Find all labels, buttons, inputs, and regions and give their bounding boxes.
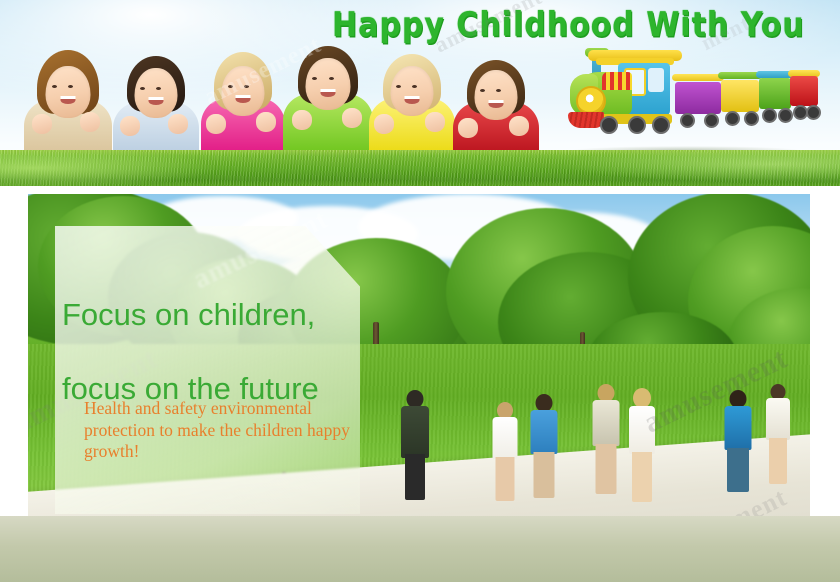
children-photo xyxy=(8,34,508,156)
child-3-face xyxy=(222,66,265,116)
child-2-face xyxy=(135,68,178,118)
foreground-path xyxy=(0,516,840,582)
child-6 xyxy=(452,46,540,156)
child-5-face xyxy=(391,66,434,116)
child-walking xyxy=(626,388,658,506)
banner-title: Happy Childhood With You xyxy=(332,6,834,51)
child-walking xyxy=(528,394,560,502)
child-3 xyxy=(200,40,286,156)
page-root: Happy Childhood With You amusement amuse… xyxy=(0,0,840,582)
train-stripes xyxy=(602,72,632,90)
headline-line-1: Focus on children, xyxy=(62,297,315,332)
train-wheel xyxy=(600,116,618,134)
banner-grass xyxy=(0,150,840,186)
train-wheel xyxy=(628,116,646,134)
child-walking xyxy=(490,402,520,502)
amusement-train-illustration xyxy=(566,46,816,158)
child-walking xyxy=(590,384,622,498)
banner-separator xyxy=(0,186,840,194)
child-walking xyxy=(722,390,754,498)
train-wheel xyxy=(652,116,670,134)
child-4-face xyxy=(306,58,351,110)
child-walking xyxy=(764,384,792,488)
child-5 xyxy=(368,40,456,156)
child-6-face xyxy=(475,70,518,120)
child-1 xyxy=(22,40,114,156)
train-cowcatcher xyxy=(568,112,604,128)
hero-subtext: Health and safety environmental protecti… xyxy=(84,398,364,463)
child-1-face xyxy=(46,66,91,118)
top-banner: Happy Childhood With You amusement amuse… xyxy=(0,0,840,186)
child-2 xyxy=(112,44,200,156)
train-window-2 xyxy=(648,68,664,92)
